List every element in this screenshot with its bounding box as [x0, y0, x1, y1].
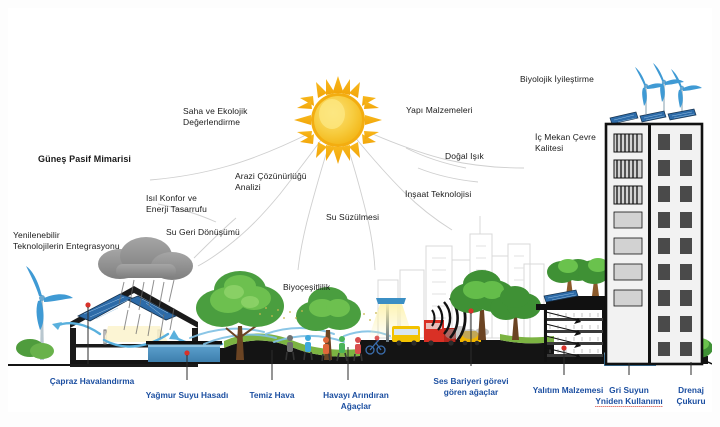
label-dogal-isik: Doğal Işık	[445, 151, 484, 162]
label-ic-mekan-cevre-kalitesi: İç Mekan Çevre Kalitesi	[535, 132, 596, 154]
shrub-left	[16, 339, 54, 359]
rainwater-harvest-tank	[146, 341, 222, 362]
label-havayi-arindiran-agaclar: Havayı Arındıran Ağaçlar	[323, 390, 389, 411]
marker-ses-bariyeri	[468, 308, 473, 313]
label-gri-suyun-yeniden-kullanimi: Gri SuyunYniden Kullanımı	[595, 385, 662, 406]
marker-capraz-havalandirma	[85, 302, 90, 307]
label-biyolojik-iyilestirme: Biyolojik İyileştirme	[520, 74, 594, 85]
label-capraz-havalandirma: Çapraz Havalandırma	[50, 376, 134, 387]
infographic-artboard: Güneş Pasif Mimarisi Saha ve Ekolojik De…	[8, 8, 712, 412]
label-yalitim-malzemesi: Yalıtım Malzemesi	[533, 385, 604, 396]
label-isil-konfor-ve-enerji-tasarrufu: Isıl Konfor ve Enerji Tasarrufu	[146, 193, 207, 215]
rain-cloud	[98, 237, 193, 338]
scene-illustration	[8, 8, 712, 412]
label-gunes-pasif-mimarisi: Güneş Pasif Mimarisi	[38, 154, 131, 165]
sun-graphic	[294, 76, 382, 164]
label-saha-ve-ekolojik-degerlendirme: Saha ve Ekolojik Değerlendirme	[183, 106, 247, 128]
label-yagmur-suyu-hasadi: Yağmur Suyu Hasadı	[146, 390, 229, 401]
label-arazi-cozunurlugu-analizi: Arazi Çözünürlüğü Analizi	[235, 171, 307, 193]
high-rise-tower	[606, 63, 702, 364]
label-su-suzulmesi: Su Süzülmesi	[326, 212, 379, 223]
gri-suyun-line2: Yniden Kullanımı	[595, 396, 662, 407]
label-ses-bariyeri-goren-agaclar: Ses Bariyeri görevi gören ağaçlar	[433, 376, 508, 397]
label-yenilenebilir-teknolojilerin-entegrasyonu: Yenilenebilir Teknolojilerin Entegrasyon…	[13, 230, 120, 252]
label-temiz-hava: Temiz Hava	[249, 390, 294, 401]
solar-panel-array-tower	[610, 109, 696, 124]
gri-suyun-line1: Gri Suyun	[609, 385, 649, 395]
label-drenaj-cukuru: Drenaj Çukuru	[676, 385, 705, 406]
marker-yalitim-malzemesi	[561, 345, 566, 350]
label-biyocesitlilik: Biyoçeşitlilik	[283, 282, 330, 293]
infographic-canvas: Güneş Pasif Mimarisi Saha ve Ekolojik De…	[0, 0, 720, 427]
marker-yagmur-suyu-hasadi	[184, 350, 189, 355]
roof-wind-turbines	[635, 63, 702, 114]
label-yapi-malzemeleri: Yapı Malzemeleri	[406, 105, 473, 116]
label-su-geri-donusumu: Su Geri Dönüşümü	[166, 227, 240, 238]
tower-louvre-windows	[614, 134, 642, 204]
label-insaat-teknolojisi: İnşaat Teknolojisi	[405, 189, 471, 200]
